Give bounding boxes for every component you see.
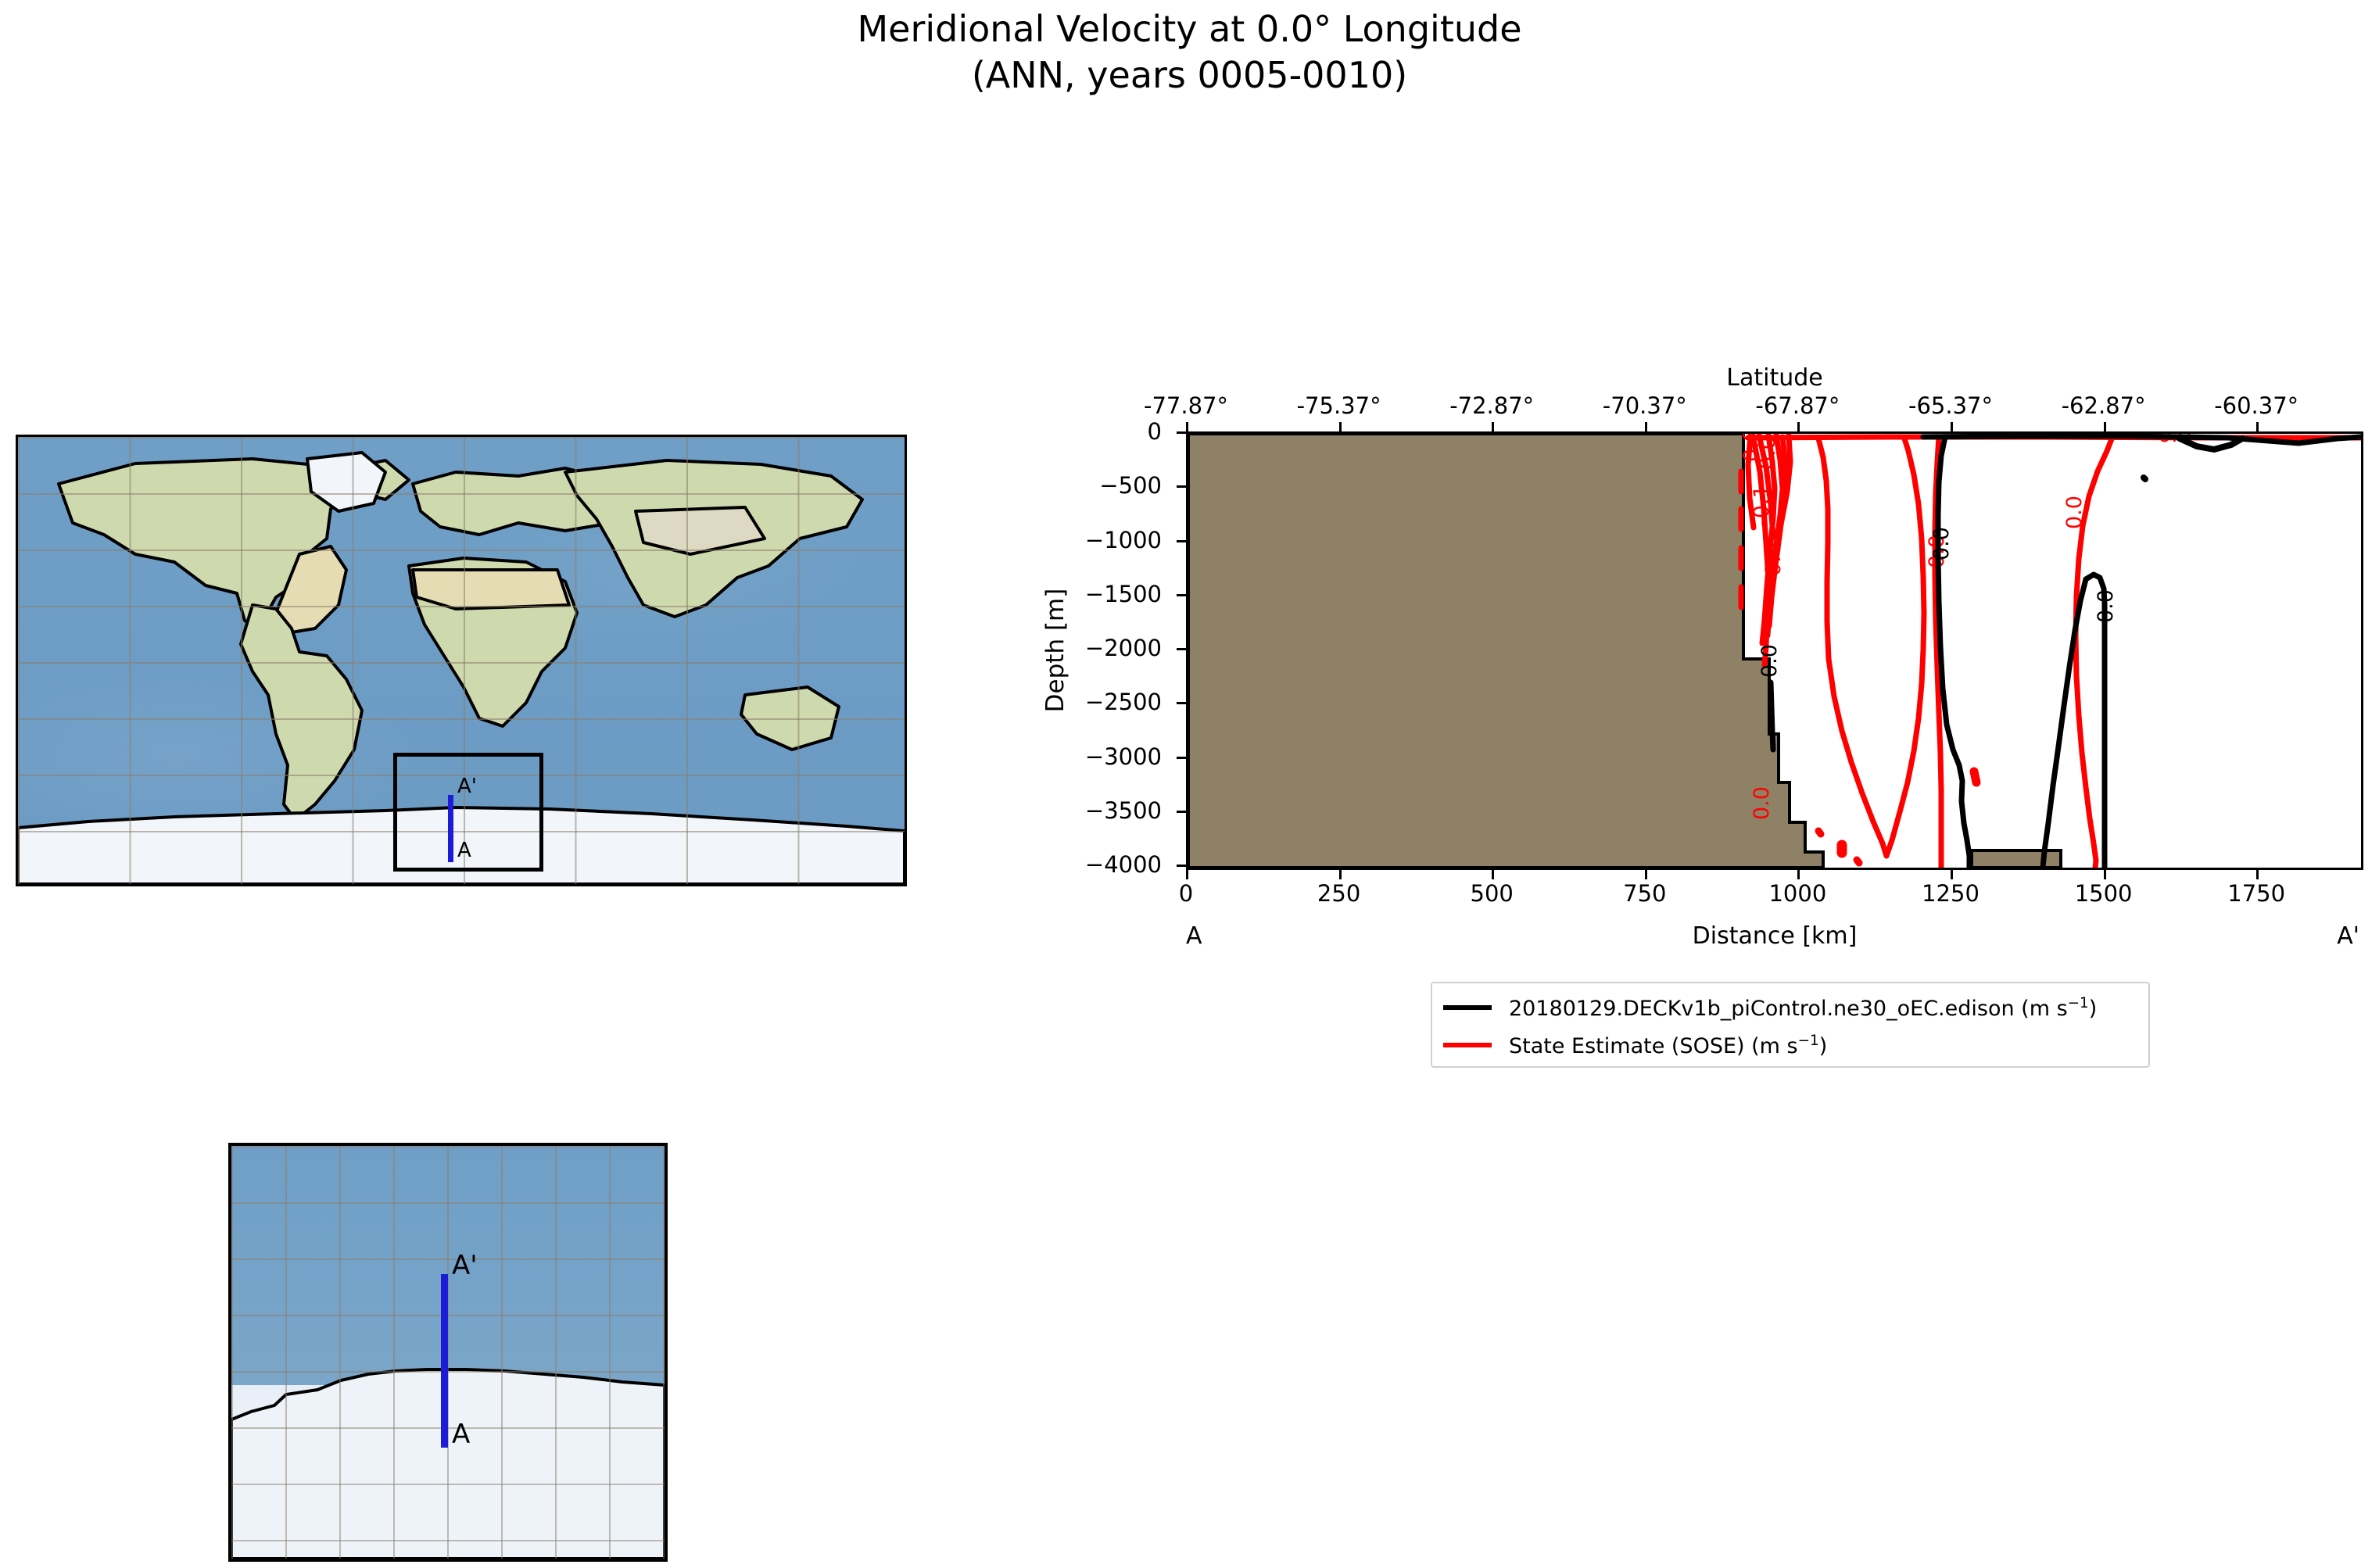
cross-section-plot[interactable]: 0.0 0.0 -0.1 0.0 0.0 0.0 0.0 0.0 <box>1186 431 2363 870</box>
latitude-tick: -62.87° <box>2062 392 2146 419</box>
svg-text:0.0: 0.0 <box>2094 589 2118 623</box>
section-start-marker: A <box>1186 922 1202 950</box>
distance-tick: 1000 <box>1768 880 1826 907</box>
legend-label-model-main: 20180129.DECKv1b_piControl.ne30_oEC.edis… <box>1509 997 2068 1021</box>
svg-text:-0.1: -0.1 <box>1750 485 1774 526</box>
latitude-axis-label: Latitude <box>1726 364 1822 392</box>
depth-tick: −3500 <box>1085 797 1162 824</box>
regional-transect-line <box>441 1274 448 1448</box>
legend-label-sose: State Estimate (SOSE) (m s−1) <box>1509 1033 1827 1058</box>
section-contours: 0.0 0.0 -0.1 0.0 0.0 0.0 0.0 0.0 <box>1188 434 2361 868</box>
distance-axis-label: Distance [km] <box>1693 922 1858 950</box>
title-line-1: Meridional Velocity at 0.0° Longitude <box>857 8 1521 50</box>
legend-label-model: 20180129.DECKv1b_piControl.ne30_oEC.edis… <box>1509 995 2097 1021</box>
latitude-tick: -67.87° <box>1755 392 1840 419</box>
title-line-2: (ANN, years 0005-0010) <box>0 52 2379 98</box>
distance-tick: 500 <box>1471 880 1514 907</box>
regional-coastline <box>231 1146 665 1559</box>
distance-tick-labels: 0 250 500 750 1000 1250 1500 1750 <box>1186 880 2363 908</box>
svg-text:0.0: 0.0 <box>1750 786 1774 820</box>
legend-label-model-exponent: −1 <box>2068 995 2089 1011</box>
depth-tick-labels: 0 −500 −1000 −1500 −2000 −2500 −3000 −35… <box>1009 431 1173 870</box>
latitude-tick: -77.87° <box>1144 392 1228 419</box>
depth-tick: −1500 <box>1085 581 1162 607</box>
legend-label-sose-exponent: −1 <box>1798 1033 1819 1049</box>
svg-text:0.0: 0.0 <box>1757 644 1782 678</box>
distance-tick: 1500 <box>2075 880 2133 907</box>
section-end-marker: A' <box>2337 922 2359 950</box>
latitude-tick: -75.37° <box>1297 392 1381 419</box>
svg-text:0.0: 0.0 <box>1756 436 1780 470</box>
svg-text:0.0: 0.0 <box>1929 527 1954 560</box>
regional-transect-start-label: A <box>452 1421 470 1448</box>
latitude-tick: -72.87° <box>1449 392 1534 419</box>
svg-text:0.0: 0.0 <box>1761 542 1786 576</box>
legend-swatch-sose <box>1443 1043 1492 1047</box>
latitude-tick: -70.37° <box>1603 392 1687 419</box>
transect-start-label: A <box>457 840 471 861</box>
depth-tick: −500 <box>1099 472 1162 499</box>
depth-tick: 0 <box>1148 418 1162 445</box>
legend-item-model[interactable]: 20180129.DECKv1b_piControl.ne30_oEC.edis… <box>1443 990 2097 1026</box>
bathymetry-mask <box>1188 434 1823 868</box>
sose-contour-labels: 0.0 0.0 -0.1 0.0 0.0 0.0 0.0 0.0 <box>1739 434 2191 820</box>
regional-map-inset[interactable]: A' A <box>228 1143 668 1562</box>
distance-tick: 750 <box>1623 880 1666 907</box>
legend[interactable]: 20180129.DECKv1b_piControl.ne30_oEC.edis… <box>1431 982 2150 1068</box>
legend-label-sose-tail: ) <box>1819 1034 1828 1058</box>
svg-text:0.0: 0.0 <box>2062 496 2087 529</box>
transect-line <box>448 795 453 862</box>
distance-tick: 250 <box>1317 880 1360 907</box>
depth-tick: −3000 <box>1085 743 1162 770</box>
depth-tick: −2500 <box>1085 689 1162 715</box>
depth-tick: −2000 <box>1085 635 1162 661</box>
depth-tick: −1000 <box>1085 527 1162 553</box>
distance-tick: 1750 <box>2227 880 2285 907</box>
distance-tick: 1250 <box>1922 880 1980 907</box>
regional-transect-end-label: A' <box>452 1252 478 1279</box>
legend-label-sose-main: State Estimate (SOSE) (m s <box>1509 1034 1798 1058</box>
distance-tick: 0 <box>1179 880 1193 907</box>
latitude-tick: -65.37° <box>1908 392 1993 419</box>
latitude-tick-labels: -77.87° -75.37° -72.87° -70.37° -67.87° … <box>1186 392 2363 421</box>
legend-label-model-tail: ) <box>2089 997 2098 1021</box>
legend-item-sose[interactable]: State Estimate (SOSE) (m s−1) <box>1443 1027 1827 1063</box>
page-title: Meridional Velocity at 0.0° Longitude (A… <box>0 6 2379 98</box>
world-map-overview[interactable]: A' A <box>16 435 907 886</box>
seafloor-bump <box>1972 850 2061 868</box>
depth-tick: −4000 <box>1085 851 1162 878</box>
transect-end-label: A' <box>457 776 477 797</box>
legend-swatch-model <box>1443 1005 1492 1010</box>
latitude-tick: -60.37° <box>2214 392 2298 419</box>
